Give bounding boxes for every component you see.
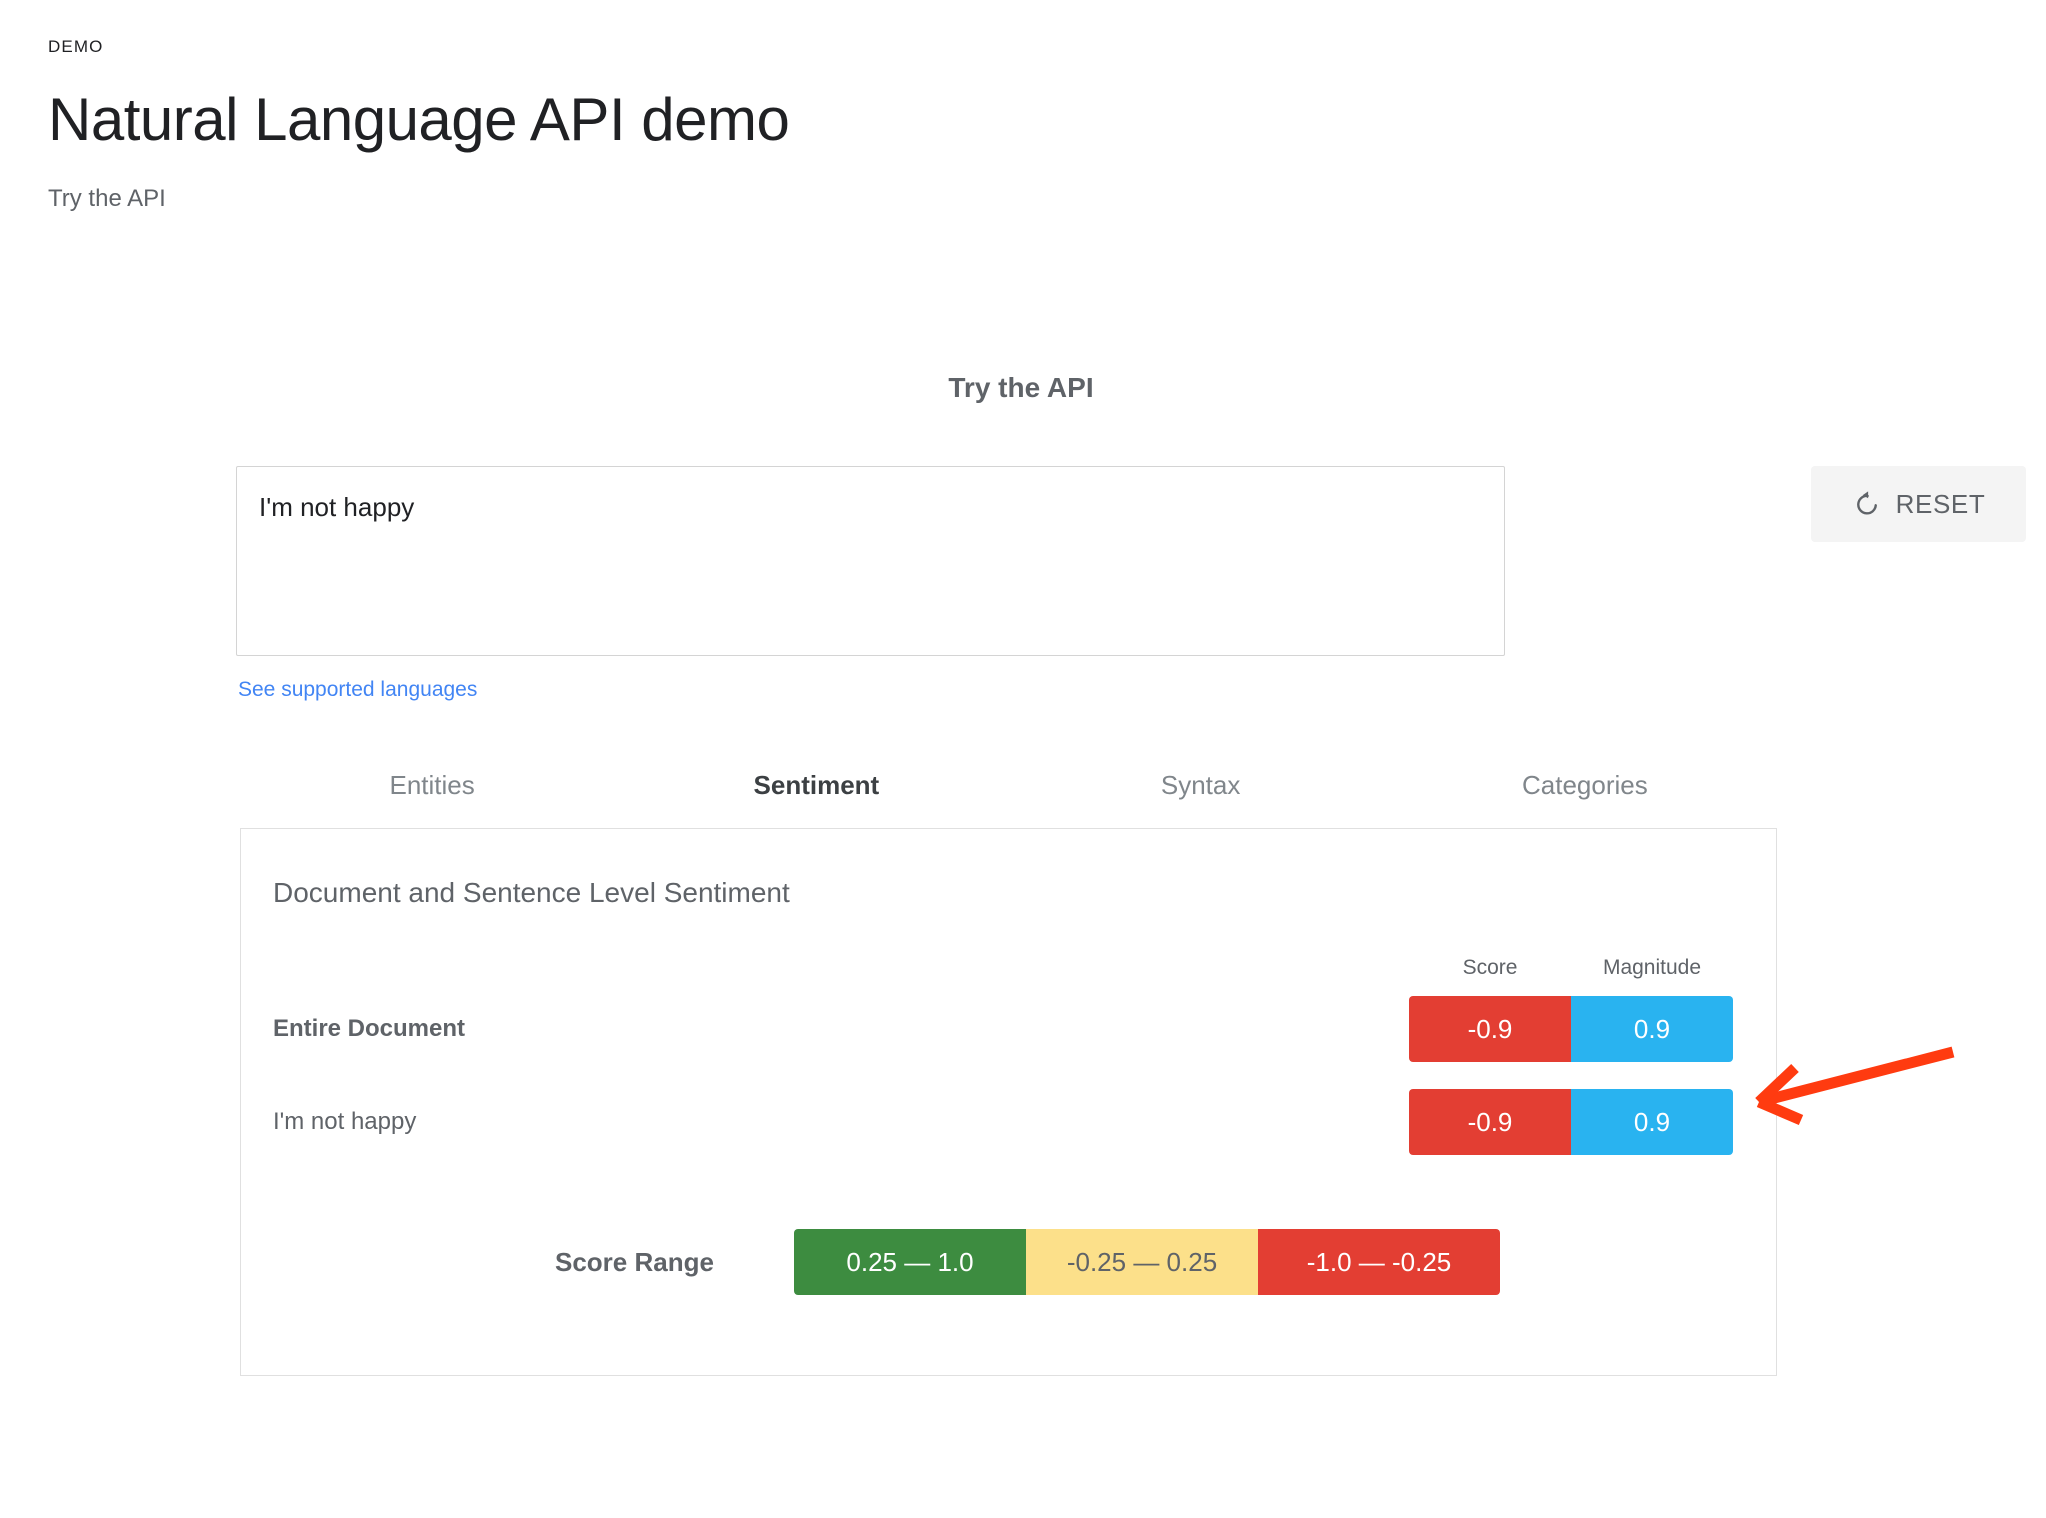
- tab-syntax-label: Syntax: [1161, 770, 1241, 801]
- tab-entities-label: Entities: [389, 770, 474, 801]
- reset-button[interactable]: RESET: [1811, 466, 2026, 542]
- tab-sentiment[interactable]: Sentiment: [624, 760, 1008, 834]
- row-values-entire-document: -0.9 0.9: [1409, 996, 1733, 1062]
- result-tabs: Entities Sentiment Syntax Categories: [240, 760, 1777, 834]
- eyebrow-label: DEMO: [48, 38, 1448, 55]
- try-the-api-heading: Try the API: [0, 372, 2046, 404]
- table-row: Entire Document -0.9 0.9: [273, 996, 1733, 1062]
- score-range-legend: 0.25 — 1.0 -0.25 — 0.25 -1.0 — -0.25: [794, 1229, 1500, 1295]
- magnitude-chip: 0.9: [1571, 996, 1733, 1062]
- rotate-left-icon: [1852, 489, 1882, 519]
- panel-title: Document and Sentence Level Sentiment: [273, 877, 790, 909]
- column-headers: Score Magnitude: [1409, 956, 1733, 980]
- tab-sentiment-label: Sentiment: [754, 770, 880, 801]
- score-range-positive: 0.25 — 1.0: [794, 1229, 1026, 1295]
- tab-categories-label: Categories: [1522, 770, 1648, 801]
- score-chip: -0.9: [1409, 1089, 1571, 1155]
- reset-button-label: RESET: [1896, 489, 1986, 520]
- text-input[interactable]: [236, 466, 1505, 656]
- red-arrow-pointer-icon: [1745, 1030, 1975, 1140]
- page-header: DEMO Natural Language API demo Try the A…: [48, 38, 1448, 213]
- table-row: I'm not happy -0.9 0.9: [273, 1089, 1733, 1155]
- column-header-magnitude: Magnitude: [1571, 956, 1733, 980]
- tab-syntax[interactable]: Syntax: [1009, 760, 1393, 834]
- row-label-entire-document: Entire Document: [273, 996, 465, 1062]
- tab-categories[interactable]: Categories: [1393, 760, 1777, 834]
- tab-entities[interactable]: Entities: [240, 760, 624, 834]
- column-header-score: Score: [1409, 956, 1571, 980]
- supported-languages-link[interactable]: See supported languages: [238, 678, 477, 702]
- sentiment-result-panel: Document and Sentence Level Sentiment Sc…: [240, 828, 1777, 1376]
- score-chip: -0.9: [1409, 996, 1571, 1062]
- row-label-sentence: I'm not happy: [273, 1089, 416, 1155]
- score-range-label: Score Range: [555, 1229, 714, 1295]
- row-values-sentence: -0.9 0.9: [1409, 1089, 1733, 1155]
- page-subtitle: Try the API: [48, 185, 1448, 213]
- magnitude-chip: 0.9: [1571, 1089, 1733, 1155]
- score-range-row: Score Range 0.25 — 1.0 -0.25 — 0.25 -1.0…: [241, 1229, 1776, 1295]
- page-title: Natural Language API demo: [48, 88, 1448, 151]
- score-range-negative: -1.0 — -0.25: [1258, 1229, 1500, 1295]
- score-range-neutral: -0.25 — 0.25: [1026, 1229, 1258, 1295]
- api-input-row: RESET: [236, 466, 1776, 596]
- try-the-api-heading-text: Try the API: [948, 372, 1093, 404]
